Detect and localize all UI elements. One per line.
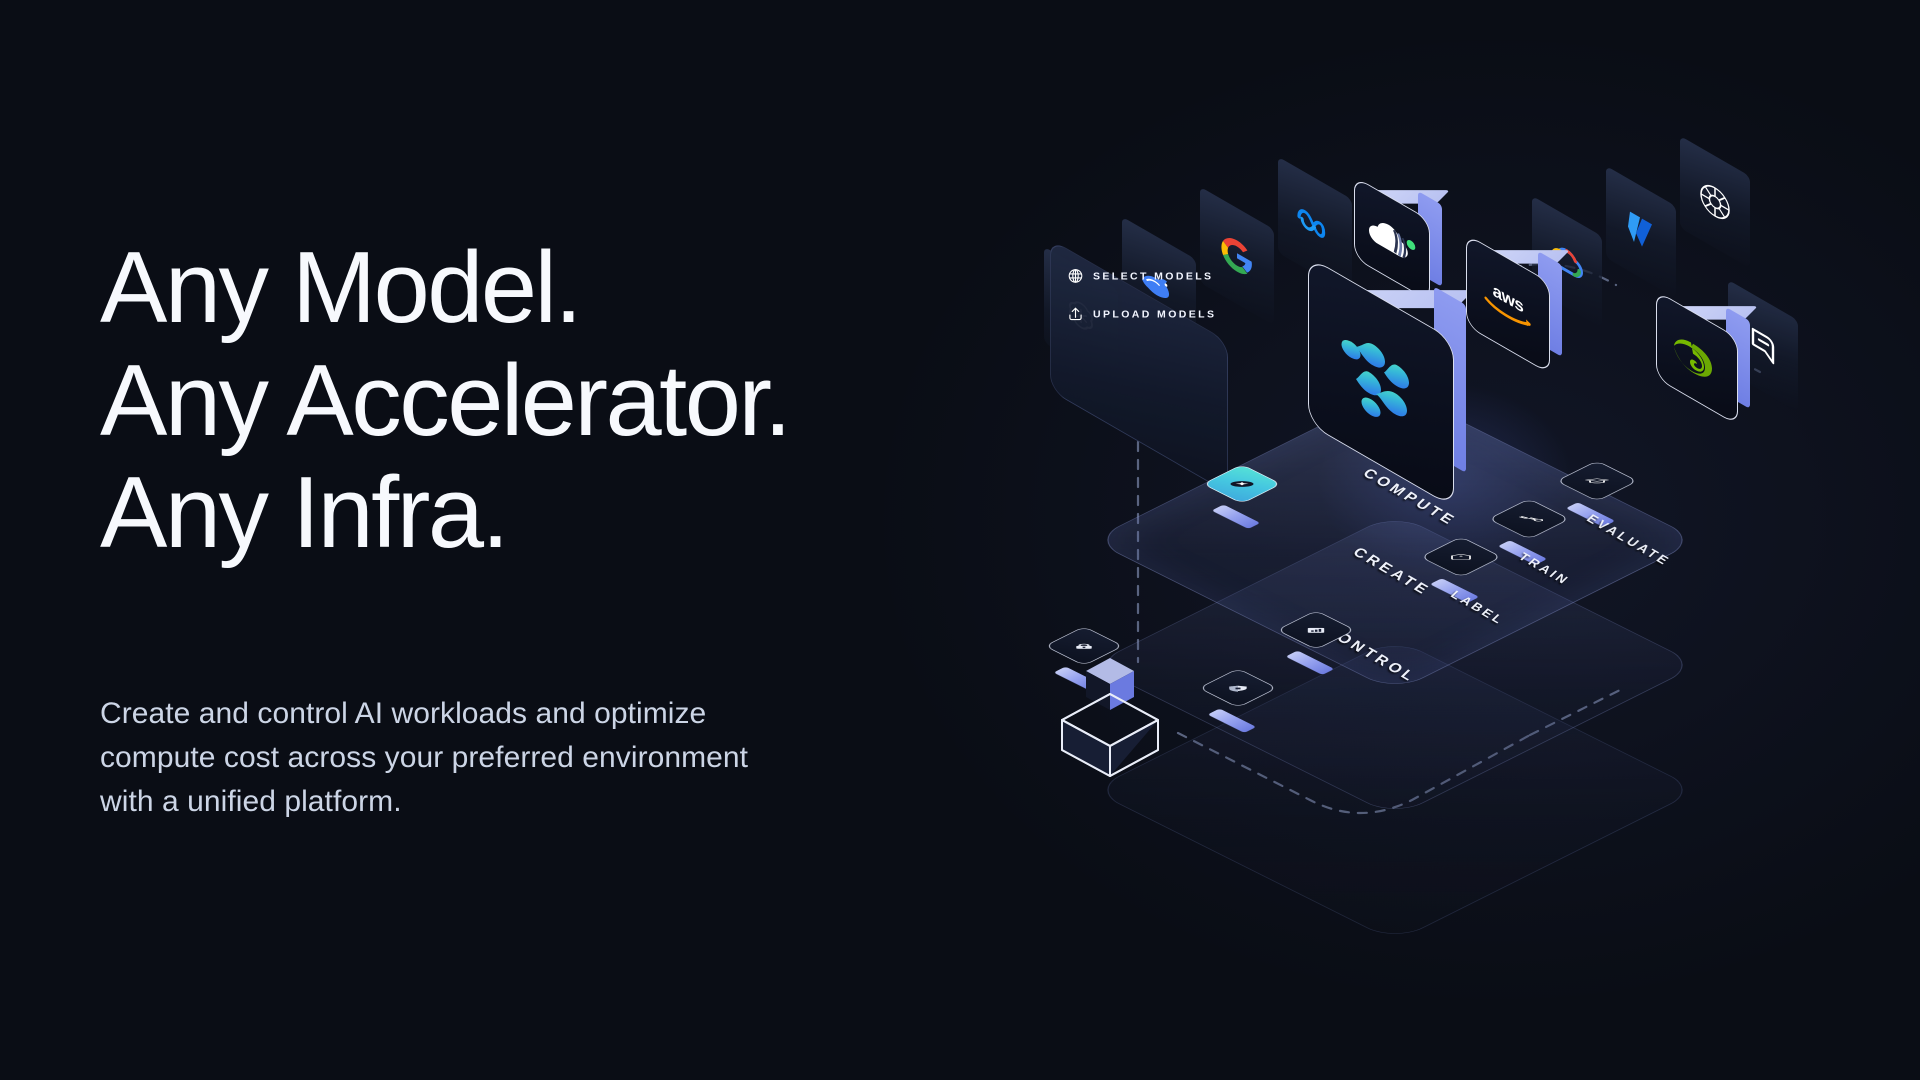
cloud-provider-logo <box>1746 319 1780 373</box>
google-logo <box>1220 229 1254 283</box>
cloud-storage-card[interactable] <box>1354 198 1430 280</box>
workflow-tile-train[interactable] <box>1500 490 1558 548</box>
infra-card-nvidia[interactable] <box>1656 314 1738 402</box>
aws-logo: aws <box>1479 269 1537 338</box>
wrench-icon <box>1515 516 1543 523</box>
azure-logo <box>1624 204 1658 260</box>
data-cube-svg <box>1050 650 1170 780</box>
control-tile-monitoring[interactable] <box>1288 602 1344 658</box>
panel-row-upload-models[interactable]: UPLOAD MODELS <box>1067 305 1216 322</box>
panel-row-select-models[interactable]: SELECT MODELS <box>1067 267 1213 284</box>
graduation-cap-icon <box>1583 478 1611 485</box>
meta-logo <box>1294 201 1336 251</box>
hero-section: Any Model. Any Accelerator. Any Infra. C… <box>0 0 1920 1080</box>
tile-top <box>1198 668 1277 708</box>
workflow-tile-label[interactable] <box>1432 528 1490 586</box>
svg-text:aws: aws <box>1493 279 1524 316</box>
workflow-tile-evaluate[interactable] <box>1568 452 1626 510</box>
data-cube[interactable] <box>1050 650 1170 780</box>
tile-top <box>1556 460 1638 501</box>
panel-label-upload-models: UPLOAD MODELS <box>1093 308 1216 320</box>
nvidia-logo <box>1671 325 1723 391</box>
headline-line-3: Any Infra. <box>100 457 1000 570</box>
headline-line-2: Any Accelerator. <box>100 345 1000 458</box>
platform-hero-card[interactable] <box>1308 298 1454 466</box>
tile-top <box>1488 498 1570 539</box>
tag-icon <box>1447 554 1475 561</box>
subcopy-line-1: Create and control AI workloads and opti… <box>100 692 990 736</box>
tile-top <box>1202 464 1281 504</box>
isometric-platform-diagram: aws <box>1060 150 1860 850</box>
cloud-wave-icon <box>1364 202 1420 276</box>
headline-line-1: Any Model. <box>100 232 1000 345</box>
subcopy-line-2: compute cost across your preferred envir… <box>100 736 990 780</box>
sparkle-icon <box>1227 480 1257 488</box>
tile-top <box>1276 610 1355 650</box>
globe-network-icon <box>1067 267 1084 284</box>
accelerator-node-tile[interactable] <box>1214 456 1270 512</box>
lock-icon <box>1071 643 1098 650</box>
panel-label-select-models: SELECT MODELS <box>1093 270 1213 282</box>
upload-icon <box>1067 305 1084 322</box>
control-tile-governance[interactable] <box>1210 660 1266 716</box>
tile-top <box>1420 536 1502 577</box>
shield-icon <box>1225 685 1252 692</box>
infra-card-aws[interactable]: aws <box>1466 258 1550 350</box>
hero-copy: Any Model. Any Accelerator. Any Infra. <box>100 232 1000 570</box>
kubernetes-logo <box>1696 172 1734 232</box>
platform-logo <box>1339 315 1423 449</box>
subcopy-line-3: with a unified platform. <box>100 780 990 824</box>
hero-subcopy: Create and control AI workloads and opti… <box>100 692 990 824</box>
bar-chart-icon <box>1303 627 1330 634</box>
